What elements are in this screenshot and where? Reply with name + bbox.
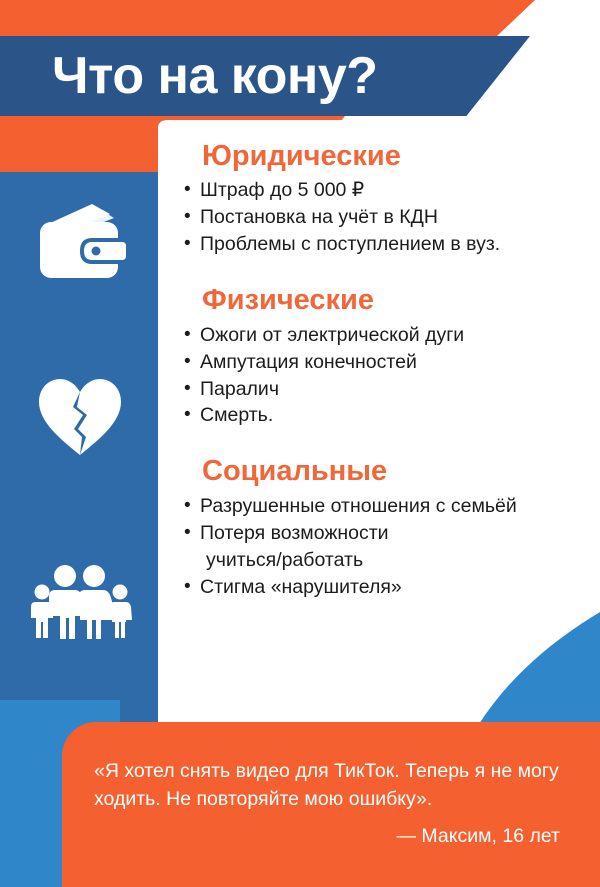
section-heading-social: Социальные (202, 455, 588, 487)
icon-rail (0, 120, 158, 740)
family-icon (28, 554, 132, 646)
list-item: Ожоги от электрической дуги (184, 323, 588, 349)
bullet-list-physical: Ожоги от электрической дуги Ампутация ко… (184, 323, 588, 430)
section-heading-physical: Физические (202, 284, 588, 316)
list-item: Штраф до 5 000 ₽ (184, 178, 588, 204)
quote-text: «Я хотел снять видео для ТикТок. Теперь … (94, 758, 566, 813)
bullet-list-social: Разрушенные отношения с семьёй Потеря во… (184, 494, 588, 601)
list-item: Смерть. (184, 403, 588, 429)
list-item: Стигма «нарушителя» (184, 575, 588, 601)
list-item: Разрушенные отношения с семьёй (184, 494, 588, 520)
top-orange-wedge (0, 0, 535, 36)
quote-attribution: — Максим, 16 лет (94, 825, 566, 848)
family-icon-wrapper (28, 552, 132, 648)
list-item: Проблемы с поступлением в вуз. (184, 232, 588, 258)
wallet-icon (30, 200, 130, 288)
list-item: Потеря возможности (184, 521, 588, 547)
broken-heart-icon (33, 373, 127, 459)
list-item: Ампутация конечностей (184, 350, 588, 376)
bullet-list-legal: Штраф до 5 000 ₽ Постановка на учёт в КД… (184, 178, 588, 258)
section-heading-legal: Юридические (202, 140, 588, 172)
section-physical: Физические Ожоги от электрической дуги А… (184, 284, 588, 429)
title-banner: Что на кону? (0, 36, 530, 116)
content-area: Юридические Штраф до 5 000 ₽ Постановка … (158, 140, 588, 602)
infographic-poster: Что на кону? (0, 0, 600, 887)
broken-heart-icon-wrapper (28, 370, 132, 462)
section-legal: Юридические Штраф до 5 000 ₽ Постановка … (184, 140, 588, 258)
list-item: Постановка на учёт в КДН (184, 205, 588, 231)
quote-banner: «Я хотел снять видео для ТикТок. Теперь … (62, 722, 600, 887)
page-title: Что на кону? (0, 50, 378, 102)
section-social: Социальные Разрушенные отношения с семьё… (184, 455, 588, 600)
list-item: Паралич (184, 377, 588, 403)
list-item-continuation: учиться/работать (184, 548, 588, 574)
wallet-icon-wrapper (28, 198, 132, 290)
